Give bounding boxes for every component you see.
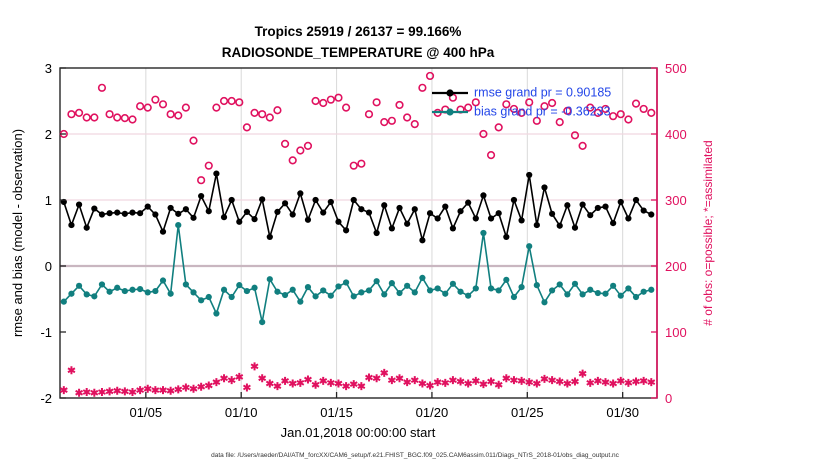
- y2-tick-label-300: 300: [665, 193, 687, 208]
- data-point: [274, 209, 280, 215]
- data-point: [457, 208, 463, 214]
- data-point: [381, 291, 387, 297]
- data-point: [526, 172, 532, 178]
- y-axis-left-label: rmse and bias (model - observation): [10, 129, 25, 337]
- y-tick-label-3: 3: [45, 61, 52, 76]
- data-point: [450, 281, 456, 287]
- data-point: [84, 291, 90, 297]
- data-point: [457, 289, 463, 295]
- data-point: [541, 299, 547, 305]
- data-point: [488, 285, 494, 291]
- data-point: [610, 283, 616, 289]
- data-point: [114, 209, 120, 215]
- data-point: [312, 293, 318, 299]
- data-point: [221, 214, 227, 220]
- data-point: [450, 225, 456, 231]
- legend-marker-rmse: [446, 89, 453, 96]
- data-point: [404, 283, 410, 289]
- data-point: [76, 283, 82, 289]
- data-point: [526, 243, 532, 249]
- data-point: [267, 276, 273, 282]
- y-axis-right-label: # of obs: o=possible; *=assimilated: [701, 140, 715, 325]
- data-point: [343, 227, 349, 233]
- data-point: [290, 211, 296, 217]
- data-point: [396, 290, 402, 296]
- data-point: [534, 222, 540, 228]
- data-point: [282, 200, 288, 206]
- legend-label-bias: bias grand pr = -0.36233: [474, 104, 611, 118]
- data-point: [366, 209, 372, 215]
- data-point: [175, 211, 181, 217]
- y2-tick-label-500: 500: [665, 61, 687, 76]
- data-point: [404, 221, 410, 227]
- data-point: [328, 293, 334, 299]
- data-point: [68, 222, 74, 228]
- data-point: [160, 229, 166, 235]
- data-point: [236, 282, 242, 288]
- data-point: [389, 225, 395, 231]
- data-point: [343, 279, 349, 285]
- data-point: [396, 205, 402, 211]
- legend-marker-bias: [446, 108, 453, 115]
- data-point: [595, 205, 601, 211]
- data-point: [145, 289, 151, 295]
- data-point: [427, 210, 433, 216]
- data-point: [618, 293, 624, 299]
- y2-tick-label-100: 100: [665, 325, 687, 340]
- data-point: [274, 289, 280, 295]
- x-tick-label-01/30: 01/30: [606, 405, 639, 420]
- data-point: [99, 211, 105, 217]
- data-point: [129, 287, 135, 293]
- data-point: [518, 217, 524, 223]
- data-point: [641, 289, 647, 295]
- data-point: [511, 197, 517, 203]
- data-point: [389, 280, 395, 286]
- data-point: [496, 210, 502, 216]
- data-point: [320, 287, 326, 293]
- data-point: [648, 211, 654, 217]
- y-tick-label-0: 0: [45, 259, 52, 274]
- data-point: [267, 234, 273, 240]
- data-point: [633, 197, 639, 203]
- data-point: [251, 285, 257, 291]
- data-point: [328, 199, 334, 205]
- data-point: [427, 287, 433, 293]
- data-point: [122, 211, 128, 217]
- y-tick-label--1: -1: [40, 325, 52, 340]
- data-point: [374, 278, 380, 284]
- data-point: [473, 285, 479, 291]
- y2-tick-label-0: 0: [665, 391, 672, 406]
- data-point: [244, 288, 250, 294]
- data-point: [76, 202, 82, 208]
- data-point: [351, 293, 357, 299]
- x-tick-label-01/10: 01/10: [225, 405, 258, 420]
- data-point: [297, 190, 303, 196]
- data-point: [114, 285, 120, 291]
- data-point: [198, 193, 204, 199]
- data-point: [190, 215, 196, 221]
- data-point: [290, 287, 296, 293]
- data-point: [618, 199, 624, 205]
- data-point: [412, 289, 418, 295]
- y2-tick-label-400: 400: [665, 127, 687, 142]
- data-point: [374, 230, 380, 236]
- data-point: [251, 216, 257, 222]
- x-axis-caption: Jan.01,2018 00:00:00 start: [281, 425, 436, 440]
- data-point: [168, 291, 174, 297]
- data-point: [221, 287, 227, 293]
- data-point: [152, 288, 158, 294]
- data-point: [183, 281, 189, 287]
- y-tick-label--2: -2: [40, 391, 52, 406]
- data-point: [297, 299, 303, 305]
- data-point: [648, 287, 654, 293]
- data-point: [152, 211, 158, 217]
- data-point: [518, 284, 524, 290]
- data-point: [572, 281, 578, 287]
- data-point: [480, 230, 486, 236]
- data-point: [137, 286, 143, 292]
- y2-tick-label-200: 200: [665, 259, 687, 274]
- x-tick-label-01/05: 01/05: [130, 405, 163, 420]
- legend-label-rmse: rmse grand pr = 0.90185: [474, 85, 611, 99]
- data-point: [236, 219, 242, 225]
- data-point: [412, 206, 418, 212]
- data-point: [580, 291, 586, 297]
- data-point: [259, 196, 265, 202]
- data-point: [91, 293, 97, 299]
- data-point: [175, 222, 181, 228]
- data-point: [381, 202, 387, 208]
- data-point: [366, 287, 372, 293]
- data-point: [549, 211, 555, 217]
- data-point: [503, 277, 509, 283]
- data-point: [351, 197, 357, 203]
- data-point: [229, 294, 235, 300]
- x-tick-label-01/25: 01/25: [511, 405, 544, 420]
- data-point: [244, 209, 250, 215]
- data-point: [198, 297, 204, 303]
- plot-title-line2: RADIOSONDE_TEMPERATURE @ 400 hPa: [222, 45, 495, 60]
- data-point: [206, 294, 212, 300]
- data-point: [213, 310, 219, 316]
- data-point: [465, 293, 471, 299]
- data-point: [168, 205, 174, 211]
- data-point: [557, 223, 563, 229]
- data-point: [320, 209, 326, 215]
- data-point: [259, 319, 265, 325]
- data-point: [91, 205, 97, 211]
- data-point: [595, 290, 601, 296]
- plot-title-line1: Tropics 25919 / 26137 = 99.166%: [255, 24, 462, 39]
- data-point: [335, 283, 341, 289]
- data-point: [229, 197, 235, 203]
- data-point: [511, 294, 517, 300]
- data-point: [625, 285, 631, 291]
- data-point: [206, 208, 212, 214]
- data-point: [160, 277, 166, 283]
- data-point: [145, 204, 151, 210]
- data-point: [99, 281, 105, 287]
- data-point: [435, 285, 441, 291]
- data-point: [580, 202, 586, 208]
- data-point: [312, 197, 318, 203]
- data-file-footer: data file: /Users/raeder/DAI/ATM_forcXX/…: [211, 452, 620, 459]
- y-tick-label-1: 1: [45, 193, 52, 208]
- data-point: [564, 202, 570, 208]
- data-point: [129, 209, 135, 215]
- data-point: [587, 287, 593, 293]
- data-point: [282, 292, 288, 298]
- data-point: [625, 215, 631, 221]
- data-point: [633, 294, 639, 300]
- data-point: [496, 287, 502, 293]
- data-point: [641, 207, 647, 213]
- data-point: [358, 206, 364, 212]
- data-point: [549, 287, 555, 293]
- data-point: [419, 275, 425, 281]
- data-point: [572, 225, 578, 231]
- data-point: [137, 210, 143, 216]
- data-point: [488, 215, 494, 221]
- y-tick-label-2: 2: [45, 127, 52, 142]
- data-point: [564, 291, 570, 297]
- data-point: [541, 184, 547, 190]
- data-point: [587, 212, 593, 218]
- data-point: [503, 234, 509, 240]
- data-point: [183, 206, 189, 212]
- data-point: [358, 289, 364, 295]
- data-point: [473, 215, 479, 221]
- data-point: [106, 210, 112, 216]
- data-point: [122, 288, 128, 294]
- data-point: [602, 204, 608, 210]
- x-tick-label-01/15: 01/15: [320, 405, 353, 420]
- data-point: [442, 291, 448, 297]
- data-point: [435, 215, 441, 221]
- data-point: [84, 225, 90, 231]
- data-point: [465, 200, 471, 206]
- data-point: [61, 299, 67, 305]
- data-point: [68, 291, 74, 297]
- data-point: [305, 217, 311, 223]
- data-point: [213, 171, 219, 177]
- data-point: [190, 289, 196, 295]
- data-point: [335, 219, 341, 225]
- data-point: [610, 220, 616, 226]
- data-point: [480, 192, 486, 198]
- data-point: [442, 204, 448, 210]
- data-point: [557, 281, 563, 287]
- data-point: [534, 282, 540, 288]
- data-point: [106, 289, 112, 295]
- data-point: [305, 284, 311, 290]
- plot-figure: Tropics 25919 / 26137 = 99.166% RADIOSON…: [0, 0, 830, 470]
- x-tick-label-01/20: 01/20: [416, 405, 449, 420]
- data-point: [602, 291, 608, 297]
- data-point: [419, 237, 425, 243]
